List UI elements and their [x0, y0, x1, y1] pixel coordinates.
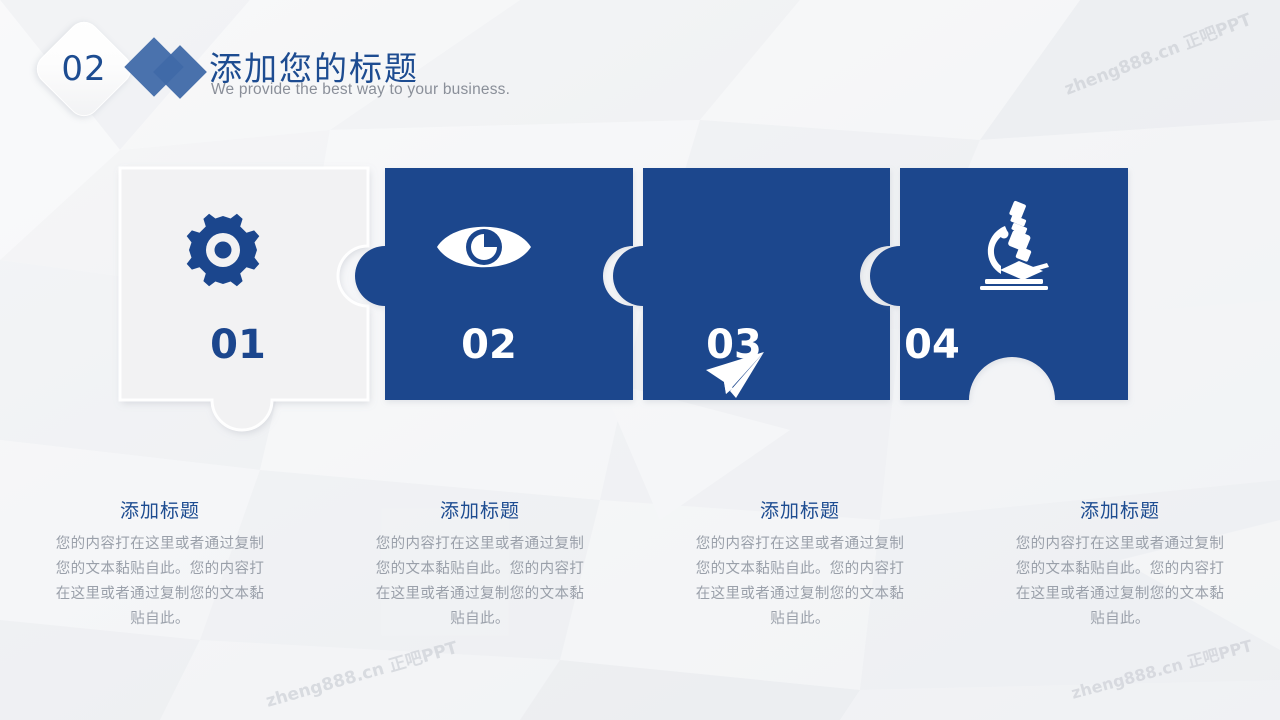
caption-column-1: 添加标题 您的内容打在这里或者通过复制您的文本黏贴自此。您的内容打在这里或者通过… — [0, 496, 320, 632]
puzzle-number-04: 04 — [904, 322, 960, 368]
puzzle-piece-03[interactable]: 03 — [613, 168, 890, 400]
caption-title: 添加标题 — [320, 496, 640, 523]
puzzle-number-02: 02 — [461, 322, 517, 368]
caption-row: 添加标题 您的内容打在这里或者通过复制您的文本黏贴自此。您的内容打在这里或者通过… — [0, 496, 1280, 632]
caption-title: 添加标题 — [640, 496, 960, 523]
puzzle-piece-01[interactable]: 01 — [120, 168, 368, 430]
slide-header: 02 添加您的标题 We provide the best way to you… — [0, 0, 1280, 140]
caption-title: 添加标题 — [960, 496, 1280, 523]
puzzle-diagram: 01 02 03 — [0, 150, 1280, 450]
puzzle-number-01: 01 — [210, 322, 266, 368]
section-badge-number: 02 — [46, 31, 122, 107]
caption-body: 您的内容打在这里或者通过复制您的文本黏贴自此。您的内容打在这里或者通过复制您的文… — [1012, 532, 1228, 632]
caption-title: 添加标题 — [0, 496, 320, 523]
caption-column-3: 添加标题 您的内容打在这里或者通过复制您的文本黏贴自此。您的内容打在这里或者通过… — [640, 496, 960, 632]
caption-body: 您的内容打在这里或者通过复制您的文本黏贴自此。您的内容打在这里或者通过复制您的文… — [692, 532, 908, 632]
caption-column-4: 添加标题 您的内容打在这里或者通过复制您的文本黏贴自此。您的内容打在这里或者通过… — [960, 496, 1280, 632]
puzzle-piece-02[interactable]: 02 — [355, 168, 633, 400]
puzzle-number-03: 03 — [706, 322, 762, 368]
page-subtitle: We provide the best way to your business… — [211, 81, 510, 99]
caption-body: 您的内容打在这里或者通过复制您的文本黏贴自此。您的内容打在这里或者通过复制您的文… — [372, 532, 588, 632]
caption-column-2: 添加标题 您的内容打在这里或者通过复制您的文本黏贴自此。您的内容打在这里或者通过… — [320, 496, 640, 632]
puzzle-piece-04[interactable]: 04 — [870, 168, 1128, 400]
caption-body: 您的内容打在这里或者通过复制您的文本黏贴自此。您的内容打在这里或者通过复制您的文… — [52, 532, 268, 632]
